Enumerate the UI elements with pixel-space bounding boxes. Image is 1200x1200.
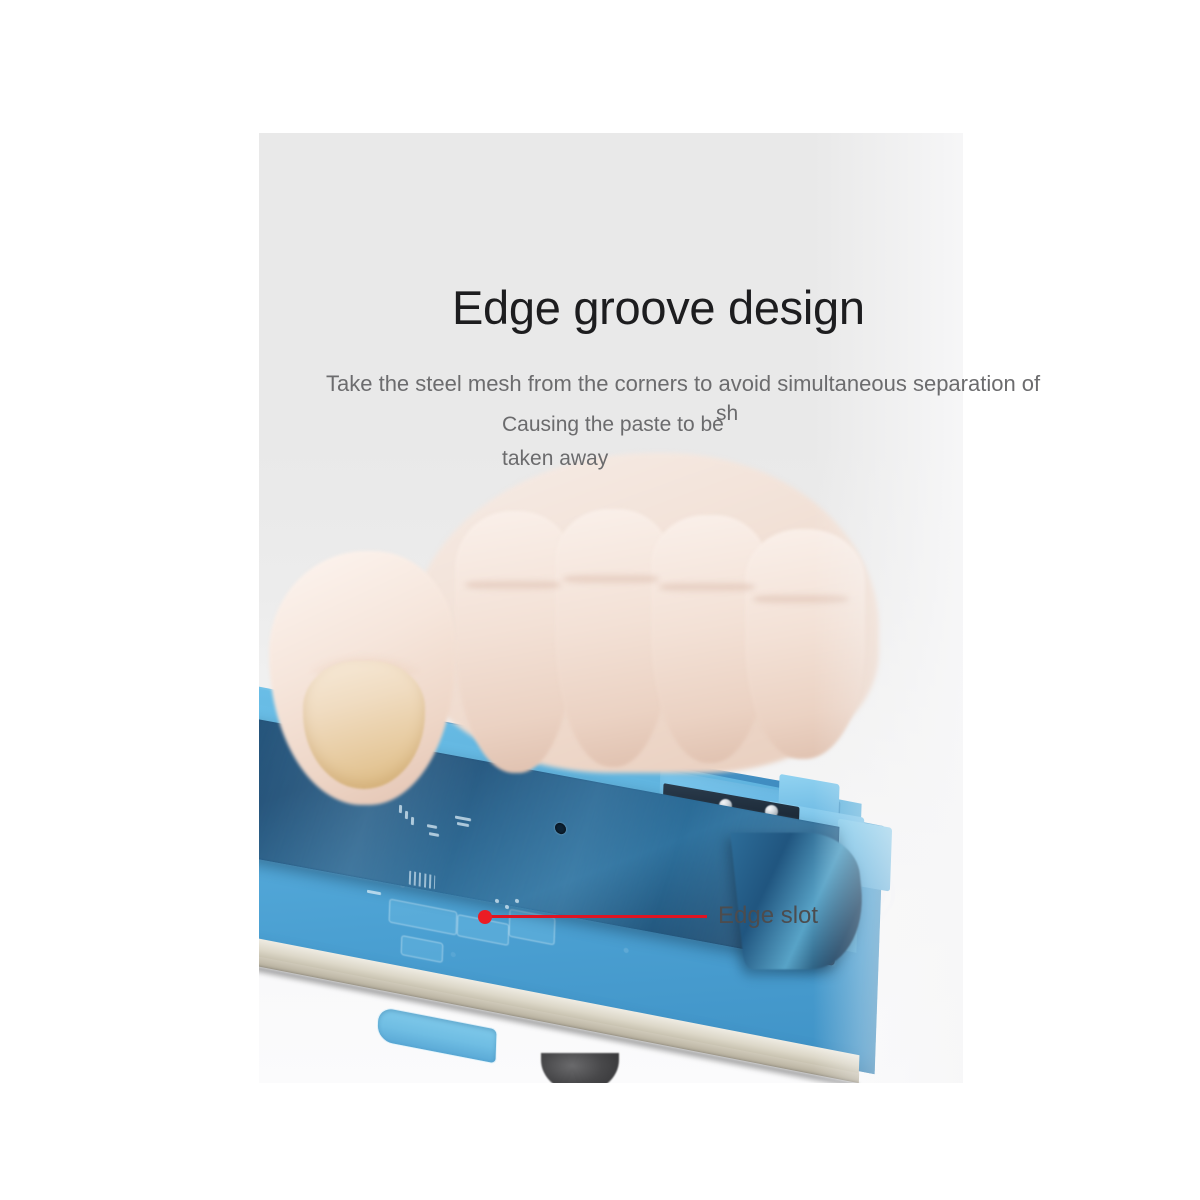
subtitle-description: Take the steel mesh from the corners to … <box>326 367 1086 401</box>
product-photograph <box>259 133 963 1083</box>
finger-joint-crease <box>563 573 659 585</box>
finger-joint-crease <box>659 581 755 593</box>
page-title: Edge groove design <box>452 283 865 332</box>
text-fragment: sh <box>716 402 738 426</box>
product-image-panel <box>259 133 963 1083</box>
stencil-etch-mark <box>515 899 519 904</box>
human-hand <box>259 493 963 823</box>
rubber-foot <box>541 1053 619 1083</box>
finger-joint-crease <box>753 593 849 605</box>
callout-marker-dot <box>478 910 492 924</box>
note-overlay-text: Causing the paste to be taken away <box>502 408 732 476</box>
callout-label-edge-slot: Edge slot <box>718 902 818 930</box>
little-finger <box>745 529 865 759</box>
stencil-etch-mark <box>495 899 499 904</box>
finger-joint-crease <box>465 579 561 591</box>
stencil-etch-mark <box>505 905 509 910</box>
callout-leader-line <box>489 915 707 918</box>
